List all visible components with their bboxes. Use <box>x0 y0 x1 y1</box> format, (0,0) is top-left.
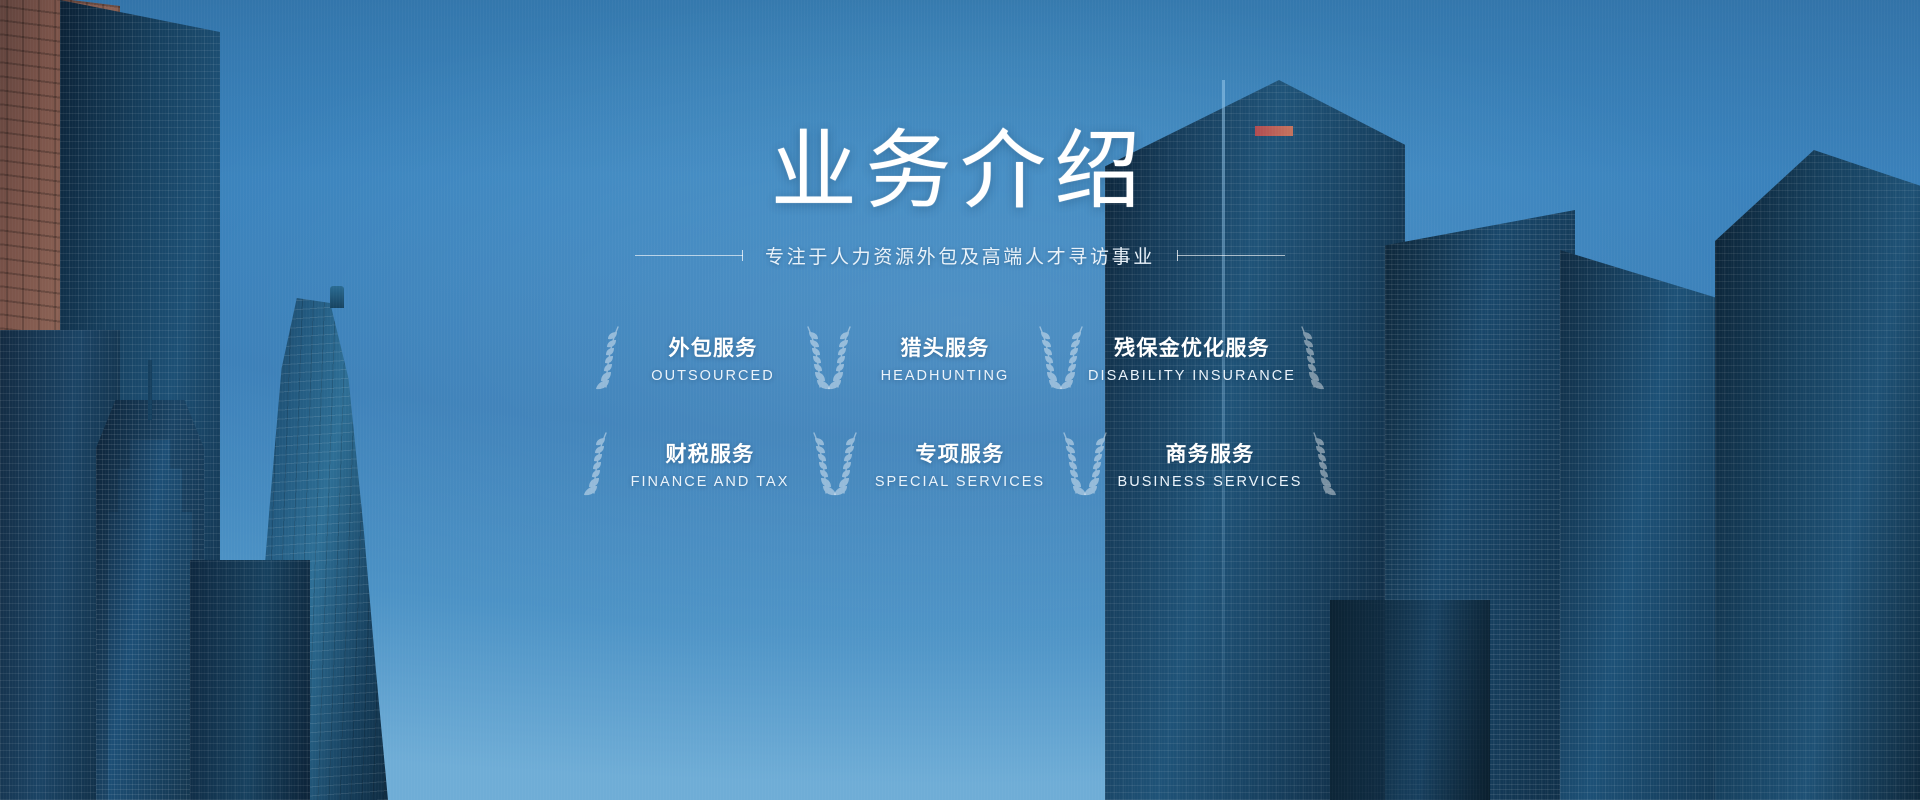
subtitle-rule-left-icon <box>635 255 743 256</box>
laurel-wreath-icon <box>591 323 625 393</box>
service-item-special-services[interactable]: 专项服务 SPECIAL SERVICES <box>835 425 1085 503</box>
service-name-en: OUTSOURCED <box>651 368 774 384</box>
service-item-headhunting[interactable]: 猎头服务 HEADHUNTING <box>829 319 1061 397</box>
service-name-cn: 猎头服务 <box>900 332 989 362</box>
service-item-outsourced[interactable]: 外包服务 OUTSOURCED <box>597 319 829 397</box>
service-item-business-services[interactable]: 商务服务 BUSINESS SERVICES <box>1085 425 1335 503</box>
service-name-en: BUSINESS SERVICES <box>1118 474 1303 490</box>
hero-banner: 业务介绍 专注于人力资源外包及高端人才寻访事业 <box>0 0 1920 800</box>
page-subtitle: 专注于人力资源外包及高端人才寻访事业 <box>765 242 1155 269</box>
service-labels: 专项服务 SPECIAL SERVICES <box>875 438 1045 490</box>
laurel-wreath-icon <box>1307 429 1341 499</box>
service-labels: 外包服务 OUTSOURCED <box>651 332 774 384</box>
services-row-1: 外包服务 OUTSOURCED <box>597 319 1323 397</box>
laurel-wreath-icon <box>829 429 863 499</box>
service-name-en: FINANCE AND TAX <box>631 474 790 490</box>
service-labels: 残保金优化服务 DISABILITY INSURANCE <box>1088 332 1296 384</box>
service-item-finance-and-tax[interactable]: 财税服务 FINANCE AND TAX <box>585 425 835 503</box>
service-labels: 财税服务 FINANCE AND TAX <box>631 438 790 490</box>
subtitle-rule-right-icon <box>1177 255 1285 256</box>
subtitle-row: 专注于人力资源外包及高端人才寻访事业 <box>635 242 1285 269</box>
laurel-wreath-icon <box>1055 323 1089 393</box>
service-name-cn: 商务服务 <box>1165 438 1254 468</box>
laurel-wreath-icon <box>1295 323 1329 393</box>
services-list: 外包服务 OUTSOURCED <box>585 319 1335 503</box>
service-labels: 猎头服务 HEADHUNTING <box>881 332 1010 384</box>
laurel-wreath-icon <box>579 429 613 499</box>
service-labels: 商务服务 BUSINESS SERVICES <box>1118 438 1303 490</box>
service-name-en: HEADHUNTING <box>881 368 1010 384</box>
service-name-cn: 专项服务 <box>915 438 1004 468</box>
services-row-2: 财税服务 FINANCE AND TAX <box>585 425 1335 503</box>
service-name-cn: 外包服务 <box>668 332 757 362</box>
service-name-cn: 财税服务 <box>665 438 754 468</box>
service-item-disability-insurance[interactable]: 残保金优化服务 DISABILITY INSURANCE <box>1061 319 1323 397</box>
laurel-wreath-icon <box>823 323 857 393</box>
page-title: 业务介绍 <box>771 128 1149 216</box>
service-name-en: DISABILITY INSURANCE <box>1088 368 1296 384</box>
hero-content: 业务介绍 专注于人力资源外包及高端人才寻访事业 <box>0 0 1920 503</box>
laurel-wreath-icon <box>1079 429 1113 499</box>
service-name-cn: 残保金优化服务 <box>1114 332 1270 362</box>
service-name-en: SPECIAL SERVICES <box>875 474 1045 490</box>
